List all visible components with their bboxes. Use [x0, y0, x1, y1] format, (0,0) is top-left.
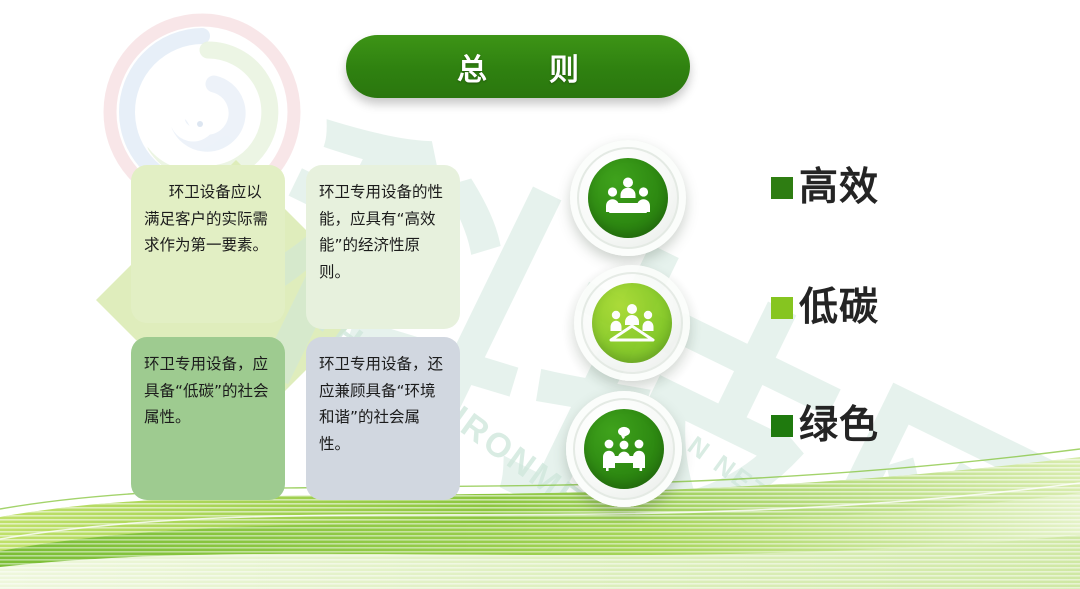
page-title: 总 则 [441, 45, 595, 89]
card-text: 环卫设备应以满足客户的实际需求作为第一要素。 [144, 179, 272, 259]
card-lowcarbon[interactable]: 环卫专用设备，应具备“低碳”的社会属性。 [131, 337, 285, 500]
principles-card-grid: 环卫设备应以满足客户的实际需求作为第一要素。 环卫专用设备的性能，应具有“高效能… [131, 165, 465, 500]
legend-label: 低碳 [799, 288, 879, 327]
presentation-icon [608, 302, 656, 344]
legend-label: 高效 [799, 168, 879, 207]
card-text: 环卫专用设备，应具备“低碳”的社会属性。 [144, 351, 272, 431]
legend-item-green[interactable]: 绿色 [771, 406, 879, 445]
slide-title-banner: 总 则 [346, 35, 690, 98]
card-text: 环卫专用设备的性能，应具有“高效能”的经济性原则。 [319, 179, 447, 286]
legend-bullet-icon [771, 177, 793, 199]
card-harmony[interactable]: 环卫专用设备，还应兼顾具备“环境和谐”的社会属性。 [306, 337, 460, 500]
icon-badge-green[interactable] [566, 391, 682, 507]
icon-badge-low-carbon[interactable] [574, 265, 690, 381]
slide-root: 科技网 THE ENVIRONMENTAL SA N NET OF CHINA [0, 0, 1080, 589]
legend-bullet-icon [771, 415, 793, 437]
card-performance[interactable]: 环卫专用设备的性能，应具有“高效能”的经济性原则。 [306, 165, 460, 329]
icon-disc [584, 409, 664, 489]
icon-stack [556, 140, 706, 530]
card-requirement[interactable]: 环卫设备应以满足客户的实际需求作为第一要素。 [131, 165, 285, 323]
icon-badge-high-efficiency[interactable] [570, 140, 686, 256]
keyword-legend: 高效 低碳 绿色 [771, 168, 991, 468]
legend-bullet-icon [771, 297, 793, 319]
legend-item-high-efficiency[interactable]: 高效 [771, 168, 879, 207]
card-text: 环卫专用设备，还应兼顾具备“环境和谐”的社会属性。 [319, 351, 447, 458]
legend-label: 绿色 [799, 406, 879, 445]
legend-item-low-carbon[interactable]: 低碳 [771, 288, 879, 327]
discussion-icon [599, 426, 649, 472]
icon-disc [592, 283, 672, 363]
meeting-icon [604, 176, 652, 220]
icon-disc [588, 158, 668, 238]
